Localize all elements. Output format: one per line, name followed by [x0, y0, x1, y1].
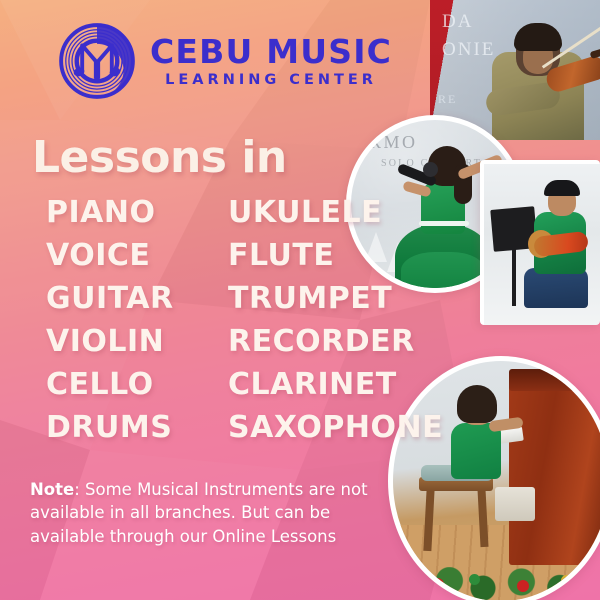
upright-piano — [509, 375, 600, 565]
list-item: PIANO — [46, 198, 188, 228]
singer-raised-arm — [457, 154, 503, 181]
piano-student-body — [451, 423, 501, 479]
piano-keys — [486, 427, 524, 446]
violin-bow — [542, 22, 600, 68]
piano-student-hair — [457, 385, 497, 423]
microphone-head — [423, 162, 438, 177]
foot-stool — [495, 487, 535, 521]
backdrop-tree-3 — [483, 236, 505, 266]
ornament-red-2 — [517, 580, 529, 592]
violin-backdrop-text-2: RE — [438, 92, 457, 107]
page-title: Lessons in — [32, 132, 287, 183]
singer-hair-back — [454, 164, 472, 204]
list-item: VOICE — [46, 241, 188, 271]
violin-student-arm — [485, 81, 562, 117]
ornament-green — [469, 574, 480, 585]
music-stand-pole — [512, 246, 516, 306]
ukulele-student-legs — [524, 268, 588, 308]
ornament-red-1 — [431, 578, 444, 591]
christmas-garland — [388, 567, 600, 600]
ornament-gold — [561, 575, 572, 586]
ukulele-soundbox — [528, 230, 554, 258]
violin-student-head — [516, 26, 560, 76]
piano-lid — [509, 369, 597, 391]
singer-hair — [428, 146, 466, 186]
list-item: UKULELE — [228, 198, 443, 228]
note-label: Note — [30, 480, 74, 499]
brand-logo: CEBU MUSIC LEARNING CENTER — [58, 22, 392, 100]
list-item: VIOLIN — [46, 327, 188, 357]
music-stand — [490, 206, 537, 252]
bench-leg-right — [477, 489, 488, 547]
violin-student-hair — [514, 23, 562, 51]
bench-leg-left — [423, 489, 434, 551]
microphone — [397, 163, 438, 187]
vinyl-record-music-note-logo-icon — [58, 22, 136, 100]
piano-student-head — [461, 391, 493, 425]
note-text: : Some Musical Instruments are not avail… — [30, 480, 368, 546]
list-item: DRUMS — [46, 413, 188, 443]
list-item: CLARINET — [228, 370, 443, 400]
brand-subtitle: LEARNING CENTER — [150, 73, 392, 88]
list-item: TRUMPET — [228, 284, 443, 314]
brand-title: CEBU MUSIC — [150, 35, 392, 68]
list-item: FLUTE — [228, 241, 443, 271]
list-item: RECORDER — [228, 327, 443, 357]
lessons-column-left: PIANO VOICE GUITAR VIOLIN CELLO DRUMS — [46, 198, 188, 456]
ukulele-student-head — [548, 186, 576, 216]
singer-head — [431, 152, 461, 186]
ukulele-student-body — [534, 212, 586, 274]
lessons-list: PIANO VOICE GUITAR VIOLIN CELLO DRUMS UK… — [46, 198, 443, 456]
singer-backdrop-subtext: SOLO CONCERT — [381, 158, 482, 169]
violin-instrument — [544, 54, 600, 94]
list-item: GUITAR — [46, 284, 188, 314]
singer-mic-arm — [402, 180, 432, 197]
piano-student-arm — [488, 417, 523, 433]
ukulele-instrument — [533, 231, 589, 257]
violin-student-face — [523, 40, 553, 74]
photo-ukulele-student — [480, 160, 600, 325]
singer-backdrop-text: RMO — [369, 132, 418, 153]
violin-backdrop-text: DAONIE — [442, 8, 495, 63]
disclaimer-note: Note: Some Musical Instruments are not a… — [30, 478, 375, 548]
piano-bench — [419, 477, 493, 491]
violin-student-body — [492, 52, 584, 140]
wooden-floor — [393, 525, 600, 600]
bench-cushion — [421, 465, 493, 481]
list-item: CELLO — [46, 370, 188, 400]
lessons-column-right: UKULELE FLUTE TRUMPET RECORDER CLARINET … — [228, 198, 443, 456]
photo-violin-student: DAONIE RE — [430, 0, 600, 140]
ukulele-student-cap — [544, 180, 580, 196]
violin-neck — [590, 44, 600, 59]
list-item: SAXOPHONE — [228, 413, 443, 443]
